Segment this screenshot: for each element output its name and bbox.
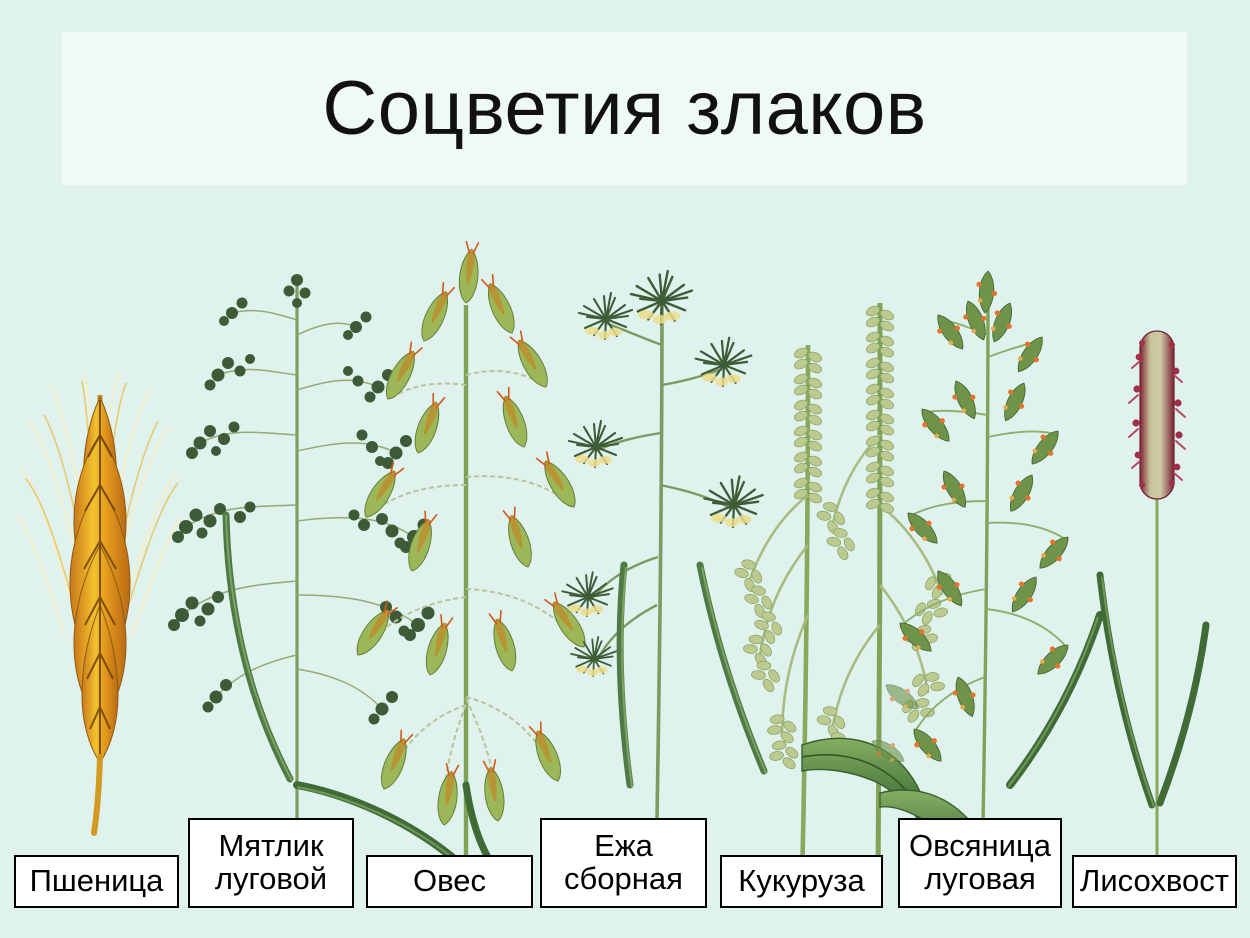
- label-text: Пшеница: [30, 865, 164, 898]
- label-text: Овсяница луговая: [909, 830, 1051, 896]
- label-text: Овес: [413, 865, 486, 898]
- label-box-wheat[interactable]: Пшеница: [14, 855, 179, 908]
- label-box-oat[interactable]: Овес: [366, 855, 533, 908]
- plant-oat: [350, 241, 591, 885]
- illustration-stage: [0, 185, 1250, 885]
- label-box-maize[interactable]: Кукуруза: [720, 855, 883, 908]
- label-text: Кукуруза: [738, 865, 864, 898]
- page-title: Соцветия злаков: [62, 71, 1187, 147]
- label-box-foxtail[interactable]: Лисохвост: [1072, 855, 1237, 908]
- label-box-cocksfoot[interactable]: Ежа сборная: [540, 818, 707, 908]
- slide-root: Соцветия злаков: [0, 0, 1250, 938]
- plant-cocksfoot: [562, 271, 762, 875]
- label-text: Мятлик луговой: [215, 830, 327, 896]
- grass-illustrations: [0, 185, 1250, 885]
- label-box-meadow-grass[interactable]: Мятлик луговой: [188, 818, 354, 908]
- plant-foxtail: [1100, 331, 1206, 885]
- plant-wheat: [18, 371, 180, 833]
- title-band: Соцветия злаков: [62, 32, 1187, 185]
- label-box-fescue[interactable]: Овсяница луговая: [898, 818, 1062, 908]
- label-text: Лисохвост: [1080, 865, 1229, 898]
- label-text: Ежа сборная: [564, 830, 683, 896]
